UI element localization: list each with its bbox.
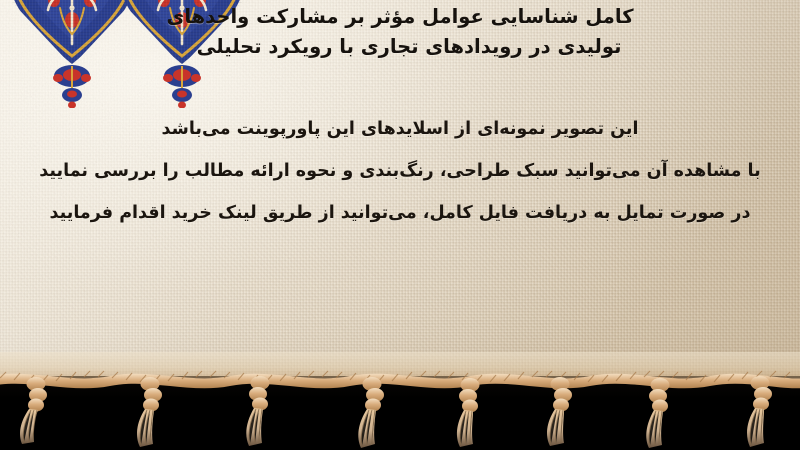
title-line-1: کامل شناسایی عوامل مؤثر بر مشارکت واحدها… bbox=[0, 2, 800, 32]
slide-body-text: این تصویر نمونه‌ای از اسلایدهای این پاور… bbox=[0, 108, 800, 234]
slide-canvas: کامل شناسایی عوامل مؤثر بر مشارکت واحدها… bbox=[0, 0, 800, 450]
slide-title: کامل شناسایی عوامل مؤثر بر مشارکت واحدها… bbox=[0, 2, 800, 62]
medallion-pendant-left bbox=[53, 65, 91, 108]
medallion-pendant-right bbox=[163, 65, 201, 108]
carpet-fringe-tassels bbox=[0, 352, 800, 450]
title-line-2: تولیدی در رویدادهای تجاری با رویکرد تحلی… bbox=[0, 32, 800, 62]
body-line-1: این تصویر نمونه‌ای از اسلایدهای این پاور… bbox=[0, 108, 800, 150]
body-line-3: در صورت تمایل به دریافت فایل کامل، می‌تو… bbox=[0, 192, 800, 234]
body-line-2: با مشاهده آن می‌توانید سبک طراحی، رنگ‌بن… bbox=[0, 150, 800, 192]
